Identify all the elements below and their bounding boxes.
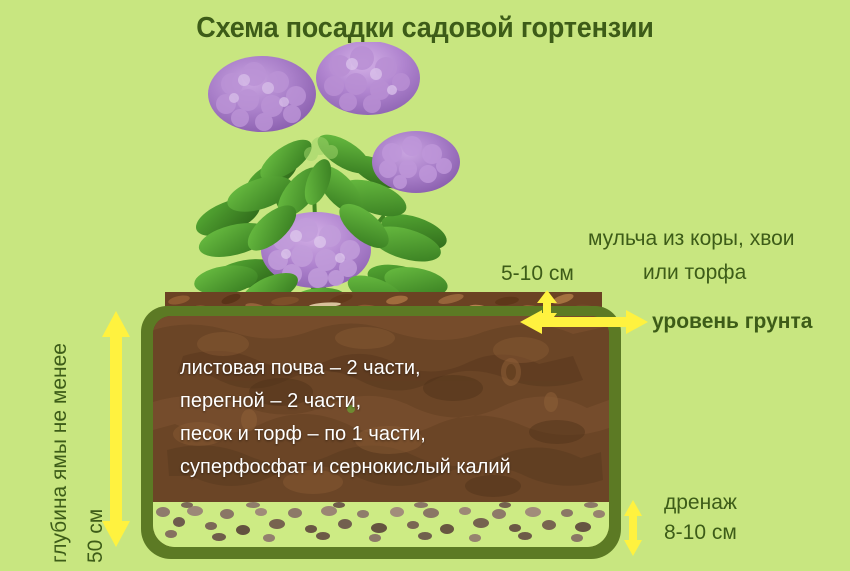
soil-mixture-line: песок и торф – по 1 части, xyxy=(180,418,610,451)
planting-scheme-diagram: Схема посадки садовой гортензии xyxy=(0,0,850,571)
page-title: Схема посадки садовой гортензии xyxy=(30,12,821,45)
mulch-description-line2: или торфа xyxy=(643,261,746,285)
double-arrow-vertical-icon xyxy=(622,500,644,561)
drainage-value: 8-10 см xyxy=(664,521,737,545)
mulch-description-line1: мульча из коры, хвои xyxy=(588,227,795,251)
ground-level-label: уровень грунта xyxy=(652,310,812,334)
soil-mixture-line: суперфосфат и сернокислый калий xyxy=(180,451,610,484)
hydrangea-bush-icon xyxy=(168,42,468,304)
pit-depth-label-group: глубина ямы не менее 50 см xyxy=(52,288,78,563)
pit-depth-value: 50 см xyxy=(84,509,108,563)
double-arrow-horizontal-icon xyxy=(520,306,648,343)
drainage-layer xyxy=(153,502,609,547)
soil-mixture-text: листовая почва – 2 части, перегной – 2 ч… xyxy=(180,352,610,484)
mulch-thickness-label: 5-10 см xyxy=(501,262,574,286)
drainage-label: дренаж xyxy=(664,491,737,515)
pit-depth-label: глубина ямы не менее xyxy=(48,343,72,563)
soil-mixture-line: перегной – 2 части, xyxy=(180,385,610,418)
soil-mixture-line: листовая почва – 2 части, xyxy=(180,352,610,385)
